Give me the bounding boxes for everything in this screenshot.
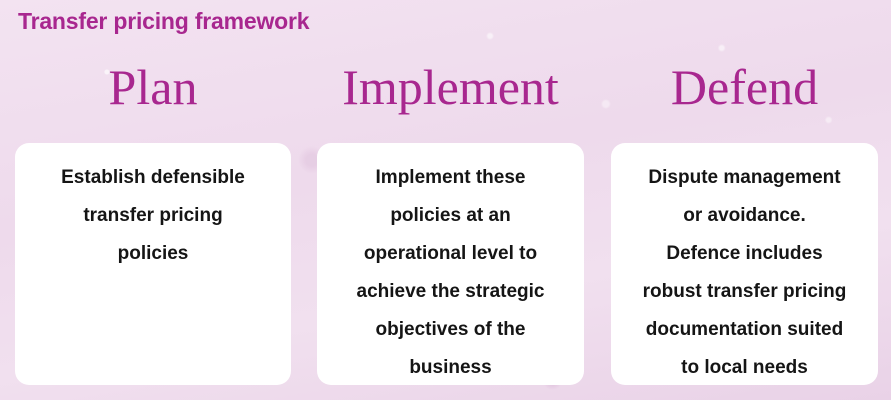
card-defend: Dispute management or avoidance. Defence… — [611, 143, 878, 385]
card-implement: Implement these policies at an operation… — [317, 143, 584, 385]
column-heading-implement: Implement — [317, 62, 584, 112]
column-heading-defend: Defend — [611, 62, 878, 112]
card-implement-text: Implement these policies at an operation… — [331, 159, 570, 387]
card-defend-text: Dispute management or avoidance. Defence… — [625, 159, 864, 387]
card-plan: Establish defensible transfer pricing po… — [15, 143, 291, 385]
transfer-pricing-framework-slide: Transfer pricing framework Plan Implemen… — [0, 0, 891, 400]
card-plan-text: Establish defensible transfer pricing po… — [29, 159, 277, 273]
column-heading-plan: Plan — [15, 62, 291, 112]
slide-title: Transfer pricing framework — [18, 8, 309, 35]
